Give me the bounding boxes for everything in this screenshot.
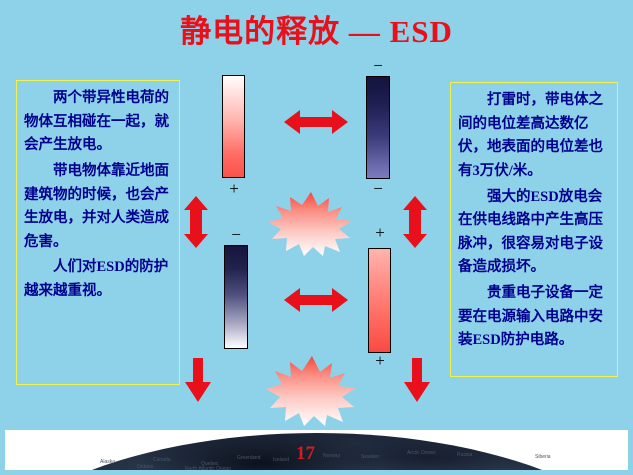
plus-sign-bar1-bottom: +: [224, 180, 244, 197]
double-horizontal-arrow-icon-top: [284, 108, 348, 136]
globe-label: Iceland: [273, 457, 289, 463]
right-text-box: 打雷时，带电体之间的电位差高达数亿伏，地表面的电位差也有3万伏/米。 强大的ES…: [450, 82, 618, 377]
left-paragraph-2: 带电物体靠近地面建筑物的时候，也会产生放电，并对人类造成危害。: [24, 160, 172, 255]
left-paragraph-3: 人们对ESD的防护越来越重视。: [24, 256, 172, 303]
charge-bar-positive-bottom-right: [368, 248, 391, 353]
globe-highlight: [5, 433, 628, 472]
right-paragraph-2: 强大的ESD放电会在供电线路中产生高压脉冲，很容易对电子设备造成损坏。: [458, 186, 610, 281]
page-title: 静电的释放 — ESD: [0, 6, 633, 51]
charge-bar-negative-bottom-left: [224, 245, 248, 349]
globe-white-backdrop: Alaska Canada Quebec Ontario Greenland I…: [5, 430, 628, 472]
globe-footer-image: Alaska Canada Quebec Ontario Greenland I…: [0, 428, 633, 475]
globe-label: Greenland: [237, 455, 260, 461]
minus-sign-bar2-top: −: [368, 57, 388, 74]
left-text-box: 两个带异性电荷的物体互相碰在一起，就会产生放电。 带电物体靠近地面建筑物的时候，…: [16, 80, 180, 385]
globe-label: Siberia: [535, 454, 551, 460]
globe-label: Russia: [457, 452, 472, 458]
double-vertical-arrow-icon-left: [183, 196, 209, 248]
globe-label: Sweden: [361, 454, 379, 460]
discharge-spark-icon-top: [268, 192, 354, 261]
bottom-rule: [0, 470, 633, 475]
right-paragraph-3: 贵重电子设备一定要在电源输入电路中安装ESD防护电路。: [458, 282, 610, 353]
slide-canvas: 静电的释放 — ESD 两个带异性电荷的物体互相碰在一起，就会产生放电。 带电物…: [0, 0, 633, 475]
left-paragraph-1: 两个带异性电荷的物体互相碰在一起，就会产生放电。: [24, 87, 172, 158]
minus-sign-bar2-bottom: −: [368, 180, 388, 197]
globe-label: Alaska: [100, 459, 115, 465]
double-vertical-arrow-icon-right: [402, 196, 428, 248]
down-arrow-icon-right: [403, 358, 431, 402]
minus-sign-bar3-top: −: [226, 226, 246, 243]
down-arrow-icon-left: [184, 358, 212, 402]
page-number: 17: [296, 443, 315, 465]
charge-bar-negative-top-right: [366, 76, 390, 179]
globe-label: Arctic Ocean: [407, 450, 436, 456]
discharge-spark-icon-bottom: [266, 356, 358, 431]
double-horizontal-arrow-icon-bottom: [284, 286, 348, 314]
right-paragraph-1: 打雷时，带电体之间的电位差高达数亿伏，地表面的电位差也有3万伏/米。: [458, 89, 610, 184]
globe-label: Norway: [323, 453, 340, 459]
globe-label: Canada: [153, 457, 171, 463]
plus-sign-bar4-bottom: +: [370, 352, 390, 369]
plus-sign-bar4-top: +: [370, 224, 390, 241]
charge-bar-positive-top-left: [222, 75, 245, 178]
